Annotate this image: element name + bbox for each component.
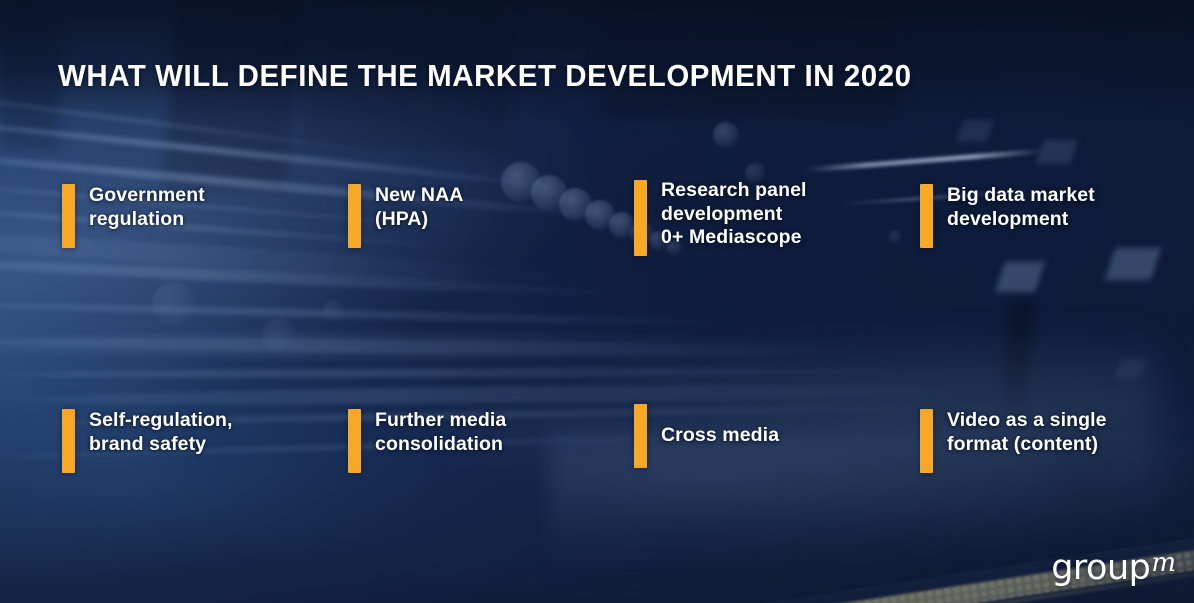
accent-bar-icon [920, 409, 933, 473]
accent-bar-icon [62, 409, 75, 473]
bullet-label: Big data market development [947, 184, 1095, 231]
accent-bar-icon [348, 409, 361, 473]
bullet-item-government-regulation[interactable]: Government regulation [62, 184, 205, 248]
bullet-label: Video as a single format (content) [947, 409, 1107, 456]
bullet-item-big-data-market[interactable]: Big data market development [920, 184, 1095, 248]
bullet-label: Research panel development 0+ Mediascope [661, 179, 807, 250]
bullet-item-video-single-format[interactable]: Video as a single format (content) [920, 409, 1107, 473]
bullet-item-research-panel[interactable]: Research panel development 0+ Mediascope [634, 180, 807, 256]
logo-wordmark: group [1051, 549, 1150, 587]
accent-bar-icon [62, 184, 75, 248]
bullet-label: Government regulation [89, 184, 205, 231]
slide: WHAT WILL DEFINE THE MARKET DEVELOPMENT … [0, 0, 1194, 603]
accent-bar-icon [634, 404, 647, 468]
bullet-label: New NAA (HPA) [375, 184, 463, 231]
bullet-item-self-regulation[interactable]: Self-regulation, brand safety [62, 409, 233, 473]
bullet-label: Cross media [661, 424, 779, 448]
bullet-label: Further media consolidation [375, 409, 506, 456]
bullet-item-cross-media[interactable]: Cross media [634, 404, 779, 468]
logo-m-mark: m [1151, 550, 1176, 576]
accent-bar-icon [920, 184, 933, 248]
accent-bar-icon [634, 180, 647, 256]
bullet-label: Self-regulation, brand safety [89, 409, 233, 456]
groupm-logo: group m [1051, 549, 1176, 587]
bullet-item-further-media[interactable]: Further media consolidation [348, 409, 506, 473]
slide-content: WHAT WILL DEFINE THE MARKET DEVELOPMENT … [0, 0, 1194, 603]
bullet-grid: Government regulation New NAA (HPA) Rese… [0, 0, 1194, 603]
bullet-item-new-naa-hpa[interactable]: New NAA (HPA) [348, 184, 463, 248]
accent-bar-icon [348, 184, 361, 248]
